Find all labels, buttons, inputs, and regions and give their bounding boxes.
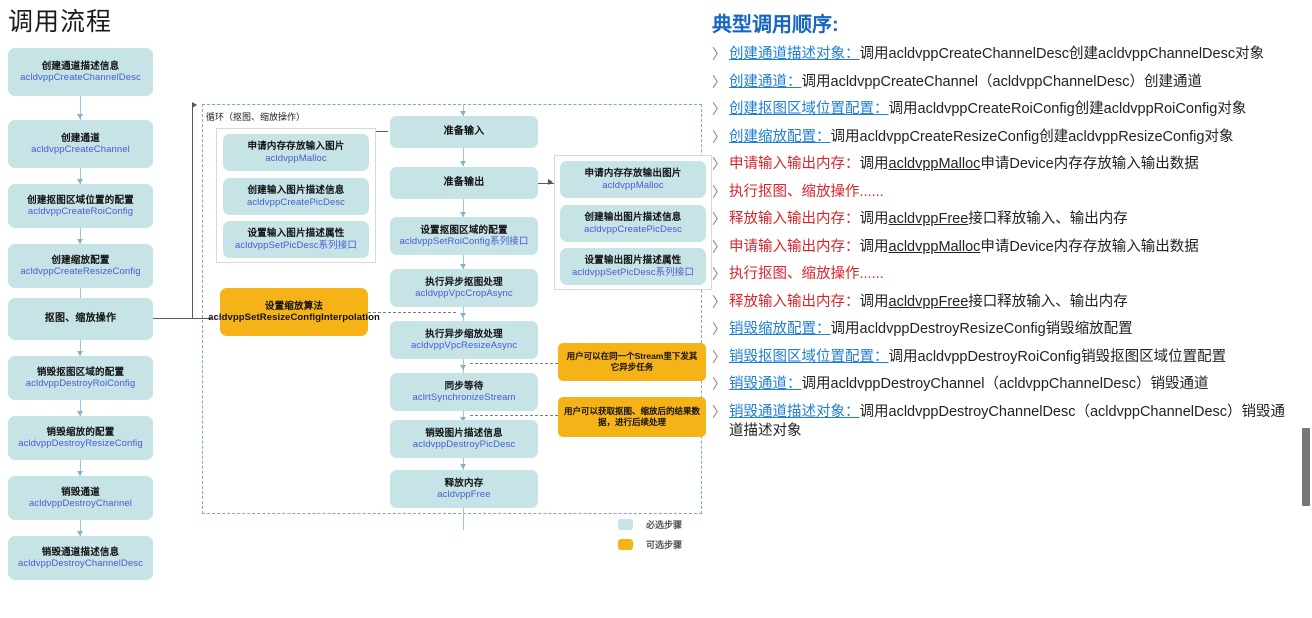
flow-box-destroy-resize-config[interactable]: 销毁缩放的配置 acldvppDestroyResizeConfig bbox=[8, 416, 153, 460]
flow-box-output-set-picdesc[interactable]: 设置输出图片描述属性 acldvppSetPicDesc系列接口 bbox=[560, 248, 706, 285]
call-sequence-item-text: 销毁通道描述对象：调用acldvppDestroyChannelDesc（acl… bbox=[729, 403, 1298, 442]
legend-swatch-optional bbox=[618, 539, 633, 550]
flow-box-en: acldvppSetPicDesc系列接口 bbox=[572, 267, 694, 278]
flow-box-zh: 同步等待 bbox=[445, 381, 484, 392]
chevron-right-icon: 〉 bbox=[712, 293, 729, 312]
flow-box-en: acldvppSetResizeConfigInterpolation bbox=[208, 312, 380, 323]
legend-label: 必选步骤 bbox=[646, 518, 682, 531]
flow-box-zh: 准备输入 bbox=[444, 126, 485, 138]
scrollbar-track[interactable] bbox=[1299, 0, 1312, 618]
call-sequence-item-lead: 创建抠图区域位置配置： bbox=[729, 101, 889, 117]
call-sequence-item-lead: 销毁通道描述对象： bbox=[729, 404, 860, 420]
flow-box-zh: 释放内存 bbox=[445, 478, 484, 489]
call-sequence-item-lead: 销毁通道： bbox=[729, 376, 802, 392]
flow-box-create-channel[interactable]: 创建通道 acldvppCreateChannel bbox=[8, 120, 153, 168]
chevron-right-icon: 〉 bbox=[712, 210, 729, 229]
connector-dashed bbox=[470, 363, 558, 364]
flow-box-zh: 创建输出图片描述信息 bbox=[584, 212, 681, 223]
call-sequence-item[interactable]: 〉销毁抠图区域位置配置：调用acldvppDestroyRoiConfig销毁抠… bbox=[712, 348, 1298, 368]
flow-box-en: acldvppCreateChannel bbox=[31, 144, 130, 155]
call-sequence-item-text: 创建通道：调用acldvppCreateChannel（acldvppChann… bbox=[729, 73, 1202, 93]
note-async-task: 用户可以在同一个Stream里下发其它异步任务 bbox=[558, 343, 706, 381]
chevron-right-icon: 〉 bbox=[712, 238, 729, 257]
flow-box-zh: 创建通道 bbox=[61, 133, 100, 144]
call-sequence-item-body: 调用acldvppMalloc申请Device内存存放输入输出数据 bbox=[860, 156, 1199, 172]
call-sequence-item[interactable]: 〉销毁通道：调用acldvppDestroyChannel（acldvppCha… bbox=[712, 375, 1298, 395]
chevron-right-icon: 〉 bbox=[712, 265, 729, 284]
loop-region-label: 循环（抠图、缩放操作） bbox=[206, 110, 305, 123]
legend-swatch-required bbox=[618, 519, 633, 530]
call-sequence-item-body: 调用acldvppMalloc申请Device内存存放输入输出数据 bbox=[860, 239, 1199, 255]
call-sequence-item-text: 释放输入输出内存：调用acldvppFree接口释放输入、输出内存 bbox=[729, 210, 1128, 230]
flow-box-create-resize-config[interactable]: 创建缩放配置 acldvppCreateResizeConfig bbox=[8, 244, 153, 288]
call-sequence-item-body: 调用acldvppCreateRoiConfig创建acldvppRoiConf… bbox=[889, 101, 1247, 117]
page-title: 调用流程 bbox=[8, 2, 112, 38]
connector bbox=[376, 131, 388, 132]
connector bbox=[463, 508, 464, 530]
flow-box-en: acldvppFree bbox=[437, 489, 490, 500]
connector-dashed bbox=[470, 415, 558, 416]
call-sequence-item-text: 执行抠图、缩放操作...... bbox=[729, 183, 884, 203]
flow-box-set-resize-interpolation[interactable]: 设置缩放算法 acldvppSetResizeConfigInterpolati… bbox=[220, 288, 368, 336]
call-sequence-item-body: 调用acldvppDestroyChannel（acldvppChannelDe… bbox=[802, 376, 1209, 392]
flow-box-zh: 销毁通道描述信息 bbox=[42, 547, 120, 558]
flow-box-en: aclrtSynchronizeStream bbox=[412, 392, 515, 403]
arrow-down-icon bbox=[460, 161, 466, 166]
api-link[interactable]: acldvppMalloc bbox=[889, 239, 981, 255]
flow-box-vpc-crop-async[interactable]: 执行异步抠图处理 acldvppVpcCropAsync bbox=[390, 269, 538, 307]
call-sequence-item[interactable]: 〉释放输入输出内存：调用acldvppFree接口释放输入、输出内存 bbox=[712, 210, 1298, 230]
legend: 必选步骤 可选步骤 bbox=[618, 518, 682, 558]
arrow-down-icon bbox=[460, 365, 466, 370]
call-sequence-item-text: 释放输入输出内存：调用acldvppFree接口释放输入、输出内存 bbox=[729, 293, 1128, 313]
flow-box-zh: 准备输出 bbox=[444, 177, 485, 189]
legend-item-required: 必选步骤 bbox=[618, 518, 682, 531]
flow-box-destroy-picdesc[interactable]: 销毁图片描述信息 acldvppDestroyPicDesc bbox=[390, 420, 538, 458]
flow-box-zh: 设置输出图片描述属性 bbox=[584, 255, 681, 266]
flow-box-input-malloc[interactable]: 申请内存存放输入图片 acldvppMalloc bbox=[223, 134, 369, 171]
call-sequence-item-lead: 销毁抠图区域位置配置： bbox=[729, 349, 889, 365]
call-sequence-item-text: 创建通道描述对象：调用acldvppCreateChannelDesc创建acl… bbox=[729, 45, 1264, 65]
flow-box-zh: 销毁图片描述信息 bbox=[425, 428, 503, 439]
flow-box-zh: 申请内存存放输入图片 bbox=[247, 141, 344, 152]
call-sequence-item-lead: 创建通道： bbox=[729, 74, 802, 90]
call-sequence-item-lead: 释放输入输出内存： bbox=[729, 294, 860, 310]
flow-box-create-roi-config[interactable]: 创建抠图区域位置的配置 acldvppCreateRoiConfig bbox=[8, 184, 153, 228]
call-sequence-title: 典型调用顺序: bbox=[712, 8, 1298, 37]
flow-box-output-malloc[interactable]: 申请内存存放输出图片 acldvppMalloc bbox=[560, 161, 706, 198]
flow-box-zh: 创建缩放配置 bbox=[51, 255, 109, 266]
connector-dashed bbox=[368, 312, 456, 313]
flow-box-en: acldvppVpcResizeAsync bbox=[411, 340, 517, 351]
flow-box-output-create-picdesc[interactable]: 创建输出图片描述信息 acldvppCreatePicDesc bbox=[560, 205, 706, 242]
arrow-down-icon bbox=[460, 313, 466, 318]
flow-box-input-create-picdesc[interactable]: 创建输入图片描述信息 acldvppCreatePicDesc bbox=[223, 178, 369, 215]
call-sequence-item-lead: 销毁缩放配置： bbox=[729, 321, 831, 337]
call-sequence-item[interactable]: 〉创建缩放配置：调用acldvppCreateResizeConfig创建acl… bbox=[712, 128, 1298, 148]
call-sequence-item[interactable]: 〉销毁缩放配置：调用acldvppDestroyResizeConfig销毁缩放… bbox=[712, 320, 1298, 340]
flow-box-en: acldvppDestroyChannel bbox=[29, 498, 132, 509]
chevron-right-icon: 〉 bbox=[712, 100, 729, 119]
flow-box-zh: 执行异步缩放处理 bbox=[425, 329, 503, 340]
flow-box-sync-stream[interactable]: 同步等待 aclrtSynchronizeStream bbox=[390, 373, 538, 411]
flow-box-set-roi-config[interactable]: 设置抠图区域的配置 acldvppSetRoiConfig系列接口 bbox=[390, 217, 538, 255]
call-sequence-item-text: 执行抠图、缩放操作...... bbox=[729, 265, 884, 285]
flow-box-destroy-roi-config[interactable]: 销毁抠图区域的配置 acldvppDestroyRoiConfig bbox=[8, 356, 153, 400]
flow-box-en: acldvppMalloc bbox=[602, 180, 664, 191]
flow-box-en: acldvppCreateRoiConfig bbox=[28, 206, 133, 217]
flow-box-zh: 设置输入图片描述属性 bbox=[247, 228, 344, 239]
call-sequence-item-lead: 创建通道描述对象： bbox=[729, 46, 860, 62]
call-sequence-item[interactable]: 〉创建通道描述对象：调用acldvppCreateChannelDesc创建ac… bbox=[712, 45, 1298, 65]
flow-box-en: acldvppMalloc bbox=[265, 153, 327, 164]
call-sequence-item-text: 申请输入输出内存：调用acldvppMalloc申请Device内存存放输入输出… bbox=[729, 155, 1199, 175]
connector-to-loop bbox=[192, 106, 193, 319]
arrow-down-icon bbox=[77, 114, 83, 119]
api-link[interactable]: acldvppMalloc bbox=[889, 156, 981, 172]
call-sequence-item[interactable]: 〉申请输入输出内存：调用acldvppMalloc申请Device内存存放输入输… bbox=[712, 155, 1298, 175]
flow-box-zh: 设置缩放算法 bbox=[265, 301, 323, 312]
call-sequence-item[interactable]: 〉释放输入输出内存：调用acldvppFree接口释放输入、输出内存 bbox=[712, 293, 1298, 313]
arrow-right-icon bbox=[548, 179, 553, 185]
call-sequence-item-body: 调用acldvppFree接口释放输入、输出内存 bbox=[860, 211, 1128, 227]
scrollbar-thumb[interactable] bbox=[1302, 428, 1310, 506]
flow-box-zh: 创建输入图片描述信息 bbox=[247, 185, 344, 196]
flow-box-en: acldvppVpcCropAsync bbox=[415, 288, 512, 299]
flow-box-en: acldvppCreateResizeConfig bbox=[20, 266, 140, 277]
flow-box-input-set-picdesc[interactable]: 设置输入图片描述属性 acldvppSetPicDesc系列接口 bbox=[223, 221, 369, 258]
flow-box-en: acldvppCreateChannelDesc bbox=[20, 72, 141, 83]
flow-box-zh: 设置抠图区域的配置 bbox=[420, 225, 507, 236]
call-sequence-panel: 典型调用顺序: 〉创建通道描述对象：调用acldvppCreateChannel… bbox=[712, 0, 1298, 618]
flow-box-en: acldvppDestroyChannelDesc bbox=[18, 558, 143, 569]
chevron-right-icon: 〉 bbox=[712, 403, 729, 422]
chevron-right-icon: 〉 bbox=[712, 375, 729, 394]
call-sequence-item[interactable]: 〉执行抠图、缩放操作...... bbox=[712, 265, 1298, 285]
flow-box-vpc-resize-async[interactable]: 执行异步缩放处理 acldvppVpcResizeAsync bbox=[390, 321, 538, 359]
call-sequence-item[interactable]: 〉创建抠图区域位置配置：调用acldvppCreateRoiConfig创建ac… bbox=[712, 100, 1298, 120]
legend-label: 可选步骤 bbox=[646, 538, 682, 551]
flow-box-destroy-channel-desc[interactable]: 销毁通道描述信息 acldvppDestroyChannelDesc bbox=[8, 536, 153, 580]
chevron-right-icon: 〉 bbox=[712, 128, 729, 147]
note-result-data: 用户可以获取抠图、缩放后的结果数据，进行后续处理 bbox=[558, 397, 706, 437]
call-sequence-item-body: 调用acldvppCreateChannel（acldvppChannelDes… bbox=[802, 74, 1203, 90]
call-sequence-item-lead: 申请输入输出内存： bbox=[729, 239, 860, 255]
chevron-right-icon: 〉 bbox=[712, 348, 729, 367]
flow-box-zh: 销毁抠图区域的配置 bbox=[37, 367, 124, 378]
legend-item-optional: 可选步骤 bbox=[618, 538, 682, 551]
call-sequence-item-text: 销毁通道：调用acldvppDestroyChannel（acldvppChan… bbox=[729, 375, 1208, 395]
call-sequence-item-body: 调用acldvppFree接口释放输入、输出内存 bbox=[860, 294, 1128, 310]
call-sequence-item-text: 申请输入输出内存：调用acldvppMalloc申请Device内存存放输入输出… bbox=[729, 238, 1199, 258]
call-sequence-item-lead: 执行抠图、缩放操作...... bbox=[729, 184, 884, 200]
chevron-right-icon: 〉 bbox=[712, 45, 729, 64]
flow-box-zh: 创建通道描述信息 bbox=[42, 61, 120, 72]
slide-canvas: 调用流程 创建通道描述信息 acldvppCreateChannelDesc 创… bbox=[0, 0, 1312, 618]
call-sequence-item-lead: 执行抠图、缩放操作...... bbox=[729, 266, 884, 282]
call-sequence-item-text: 销毁缩放配置：调用acldvppDestroyResizeConfig销毁缩放配… bbox=[729, 320, 1133, 340]
call-sequence-item[interactable]: 〉销毁通道描述对象：调用acldvppDestroyChannelDesc（ac… bbox=[712, 403, 1298, 442]
call-sequence-list: 〉创建通道描述对象：调用acldvppCreateChannelDesc创建ac… bbox=[712, 45, 1298, 442]
flow-box-destroy-channel[interactable]: 销毁通道 acldvppDestroyChannel bbox=[8, 476, 153, 520]
call-sequence-item-text: 创建缩放配置：调用acldvppCreateResizeConfig创建acld… bbox=[729, 128, 1233, 148]
flow-box-en: acldvppSetRoiConfig系列接口 bbox=[399, 236, 528, 247]
flow-box-create-channel-desc[interactable]: 创建通道描述信息 acldvppCreateChannelDesc bbox=[8, 48, 153, 96]
flow-box-zh: 申请内存存放输出图片 bbox=[584, 168, 681, 179]
chevron-right-icon: 〉 bbox=[712, 155, 729, 174]
flow-box-en: acldvppCreatePicDesc bbox=[247, 197, 345, 208]
call-sequence-item-text: 创建抠图区域位置配置：调用acldvppCreateRoiConfig创建acl… bbox=[729, 100, 1246, 120]
api-link[interactable]: acldvppFree bbox=[889, 294, 969, 310]
call-sequence-item[interactable]: 〉执行抠图、缩放操作...... bbox=[712, 183, 1298, 203]
flow-box-prepare-input[interactable]: 准备输入 bbox=[390, 116, 538, 148]
call-sequence-item[interactable]: 〉申请输入输出内存：调用acldvppMalloc申请Device内存存放输入输… bbox=[712, 238, 1298, 258]
flow-box-crop-resize-op[interactable]: 抠图、缩放操作 bbox=[8, 298, 153, 340]
flow-box-en: acldvppDestroyResizeConfig bbox=[18, 438, 143, 449]
call-sequence-item-body: 调用acldvppCreateChannelDesc创建acldvppChann… bbox=[860, 46, 1265, 62]
call-sequence-item[interactable]: 〉创建通道：调用acldvppCreateChannel（acldvppChan… bbox=[712, 73, 1298, 93]
call-sequence-item-body: 调用acldvppCreateResizeConfig创建acldvppResi… bbox=[831, 129, 1234, 145]
flow-box-en: acldvppSetPicDesc系列接口 bbox=[235, 240, 357, 251]
call-sequence-item-body: 调用acldvppDestroyResizeConfig销毁缩放配置 bbox=[831, 321, 1133, 337]
chevron-right-icon: 〉 bbox=[712, 73, 729, 92]
api-link[interactable]: acldvppFree bbox=[889, 211, 969, 227]
call-sequence-item-lead: 创建缩放配置： bbox=[729, 129, 831, 145]
call-sequence-item-lead: 申请输入输出内存： bbox=[729, 156, 860, 172]
flow-box-en: acldvppDestroyPicDesc bbox=[413, 439, 515, 450]
call-sequence-item-body: 调用acldvppDestroyRoiConfig销毁抠图区域位置配置 bbox=[889, 349, 1227, 365]
flow-box-dvpp-free[interactable]: 释放内存 acldvppFree bbox=[390, 470, 538, 508]
call-sequence-item-text: 销毁抠图区域位置配置：调用acldvppDestroyRoiConfig销毁抠图… bbox=[729, 348, 1226, 368]
call-sequence-item-lead: 释放输入输出内存： bbox=[729, 211, 860, 227]
chevron-right-icon: 〉 bbox=[712, 183, 729, 202]
chevron-right-icon: 〉 bbox=[712, 320, 729, 339]
flow-box-zh: 销毁通道 bbox=[61, 487, 100, 498]
flow-box-en: acldvppCreatePicDesc bbox=[584, 224, 682, 235]
flow-box-zh: 抠图、缩放操作 bbox=[45, 313, 116, 325]
arrow-right-icon bbox=[192, 102, 197, 108]
flow-box-prepare-output[interactable]: 准备输出 bbox=[390, 167, 538, 199]
flow-box-en: acldvppDestroyRoiConfig bbox=[26, 378, 136, 389]
flow-box-zh: 销毁缩放的配置 bbox=[47, 427, 115, 438]
arrow-down-icon bbox=[460, 464, 466, 469]
flow-box-zh: 创建抠图区域位置的配置 bbox=[27, 195, 134, 206]
flow-box-zh: 执行异步抠图处理 bbox=[425, 277, 503, 288]
